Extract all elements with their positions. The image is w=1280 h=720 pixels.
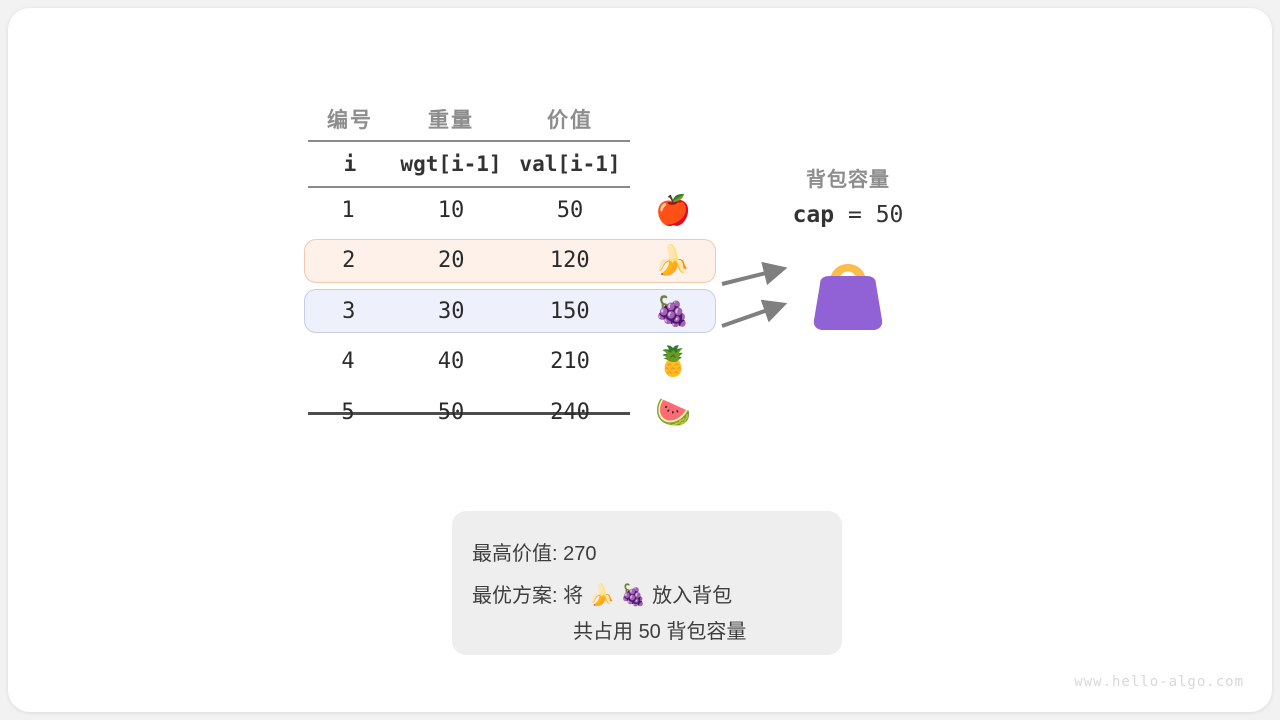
row-weight-cell: 10 — [392, 198, 510, 223]
usage-suffix: 背包容量 — [666, 621, 746, 643]
best-plan-tail: 放入背包 — [652, 585, 732, 607]
row-index-cell: 3 — [305, 299, 393, 324]
table-header-code: i wgt[i-1] val[i-1] — [308, 142, 630, 186]
row-value-cell: 210 — [510, 349, 630, 374]
table-header-cn: 编号 重量 价值 — [308, 98, 630, 140]
arrow-to-bag-2 — [722, 305, 782, 326]
best-plan-verb: 将 — [563, 585, 583, 607]
row-weight-cell: 30 — [393, 299, 510, 324]
best-plan-line: 最优方案: 将 🍌 🍇 放入背包 — [472, 579, 732, 608]
table-body: 11050🍎220120🍌330150🍇440210🍍550240🍉 — [308, 188, 630, 412]
header-value-code: val[i-1] — [510, 152, 630, 176]
table-row: 550240🍉 — [304, 390, 716, 434]
best-plan-label: 最优方案: — [472, 585, 558, 607]
capacity-title: 背包容量 — [743, 163, 953, 192]
capacity-block: 背包容量 cap = 50 — [743, 163, 953, 228]
arrow-to-bag-1 — [722, 269, 782, 284]
capacity-equals: = — [848, 202, 862, 228]
pineapple-icon: 🍍 — [630, 347, 716, 376]
table-row: 220120🍌 — [304, 239, 716, 283]
capacity-value: cap = 50 — [743, 202, 953, 228]
knapsack-bag-icon — [800, 240, 896, 336]
row-index-cell: 1 — [304, 198, 392, 223]
table-row: 440210🍍 — [304, 340, 716, 384]
best-value-label: 最高价值: — [472, 543, 558, 565]
row-weight-cell: 20 — [393, 248, 510, 273]
plan-item-grapes-icon: 🍇 — [620, 584, 646, 607]
bag-body — [814, 276, 882, 330]
row-index-cell: 2 — [305, 248, 393, 273]
plan-item-banana-icon: 🍌 — [589, 584, 615, 607]
capacity-number: 50 — [876, 202, 904, 228]
diagram-card: 编号 重量 价值 i wgt[i-1] val[i-1] 11050🍎22012… — [8, 8, 1272, 712]
site-watermark: www.hello-algo.com — [1074, 674, 1244, 690]
header-value-cn: 价值 — [510, 104, 630, 134]
apple-icon: 🍎 — [630, 196, 716, 225]
capacity-key: cap — [793, 202, 835, 228]
usage-line: 共占用 50 背包容量 — [573, 615, 746, 644]
banana-icon: 🍌 — [629, 246, 715, 275]
row-value-cell: 120 — [510, 248, 629, 273]
watermelon-icon: 🍉 — [630, 398, 716, 427]
header-weight-cn: 重量 — [392, 104, 510, 134]
header-id-code: i — [308, 152, 392, 176]
header-id-cn: 编号 — [308, 104, 392, 134]
row-value-cell: 50 — [510, 198, 630, 223]
usage-value: 50 — [639, 621, 661, 643]
table-row: 11050🍎 — [304, 188, 716, 232]
row-weight-cell: 40 — [392, 349, 510, 374]
row-index-cell: 4 — [304, 349, 392, 374]
usage-prefix: 共占用 — [573, 621, 633, 643]
grapes-icon: 🍇 — [629, 297, 715, 326]
table-row: 330150🍇 — [304, 289, 716, 333]
row-weight-cell: 50 — [392, 400, 510, 425]
header-weight-code: wgt[i-1] — [392, 152, 510, 176]
result-info-box: 最高价值: 270 最优方案: 将 🍌 🍇 放入背包 共占用 50 背包容量 — [452, 511, 842, 655]
items-table: 编号 重量 价值 i wgt[i-1] val[i-1] 11050🍎22012… — [308, 98, 630, 415]
best-value-number: 270 — [563, 543, 596, 565]
best-value-line: 最高价值: 270 — [472, 537, 597, 566]
row-value-cell: 150 — [510, 299, 629, 324]
row-index-cell: 5 — [304, 400, 392, 425]
row-value-cell: 240 — [510, 400, 630, 425]
